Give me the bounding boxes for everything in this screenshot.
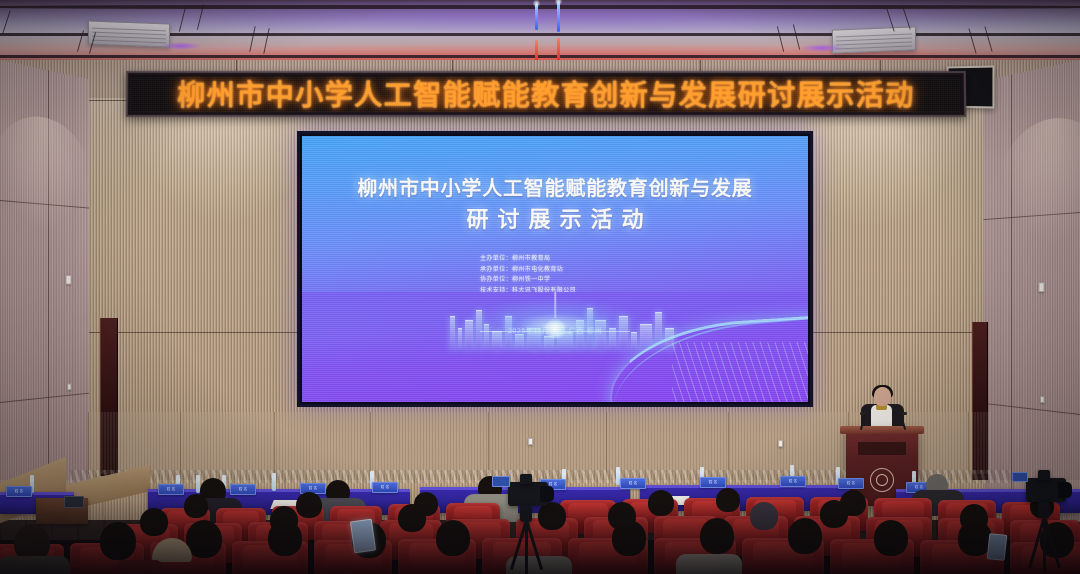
name-card: 姓 名: [700, 477, 726, 488]
air-vent: [832, 26, 916, 53]
screen-content: 柳州市中小学人工智能赋能教育创新与发展 研讨展示活动 主办单位：柳州市教育局 承…: [302, 136, 808, 402]
wall-switch[interactable]: [1040, 396, 1044, 403]
wall-switch[interactable]: [67, 383, 71, 390]
video-camera-left: [492, 468, 556, 572]
audience-member: [118, 560, 162, 574]
name-card: 姓 名: [620, 478, 646, 489]
ceiling: [0, 0, 1080, 68]
skyline-graphic: [302, 292, 808, 402]
led-banner-screen: 柳州市中小学人工智能赋能教育创新与发展研讨展示活动: [131, 76, 961, 112]
fan-lines: [672, 342, 808, 402]
video-camera-right: [1012, 462, 1078, 572]
left-side-wall: [0, 60, 89, 522]
name-card: 姓 名: [230, 484, 256, 495]
wall-switch[interactable]: [528, 438, 533, 445]
wall-switch[interactable]: [1039, 282, 1045, 292]
organizer-line: 协办单位：柳州铁一中学: [480, 275, 576, 286]
air-vent: [88, 20, 170, 47]
main-led-screen: 柳州市中小学人工智能赋能教育创新与发展 研讨展示活动 主办单位：柳州市教育局 承…: [297, 131, 813, 407]
presentation-title-line1: 柳州市中小学人工智能赋能教育创新与发展: [302, 172, 808, 201]
right-side-wall: [984, 60, 1080, 522]
microphone-head: [860, 412, 865, 415]
name-card: 姓 名: [780, 476, 806, 487]
wall-switch[interactable]: [778, 440, 783, 447]
microphone-head: [902, 412, 907, 415]
light-beam: [557, 2, 560, 32]
name-card: 姓 名: [6, 486, 32, 497]
camera-flip-screen: [1012, 472, 1028, 482]
vent-light-glow: [160, 42, 202, 50]
led-banner: 柳州市中小学人工智能赋能教育创新与发展研讨展示活动: [126, 71, 967, 117]
auditorium-photo: 柳州市中小学人工智能赋能教育创新与发展研讨展示活动 柳州市中小学人工智能赋能教育…: [0, 0, 1080, 574]
audience-member: [676, 554, 742, 574]
light-beam: [535, 4, 538, 30]
ceiling-band: [0, 55, 1080, 58]
organizer-line: 主办单位：柳州市教育局: [480, 254, 576, 265]
handheld-device[interactable]: [350, 519, 376, 554]
laptop[interactable]: [64, 496, 84, 508]
name-card: 姓 名: [838, 478, 864, 489]
led-banner-text: 柳州市中小学人工智能赋能教育创新与发展研讨展示活动: [177, 76, 915, 112]
vent-light-glow: [800, 44, 844, 52]
organizer-line: 承办单位：柳州市电化教育站: [480, 265, 576, 276]
organizer-list: 主办单位：柳州市教育局 承办单位：柳州市电化教育站 协办单位：柳州铁一中学 技术…: [480, 254, 576, 296]
wall-switch[interactable]: [66, 275, 72, 284]
name-card: 姓 名: [158, 484, 184, 495]
school-emblem-icon: [870, 468, 894, 492]
name-card: 姓 名: [372, 482, 398, 493]
camera-flip-screen: [492, 476, 510, 487]
ceiling-band: [0, 5, 1080, 9]
handheld-device[interactable]: [987, 533, 1008, 561]
presentation-title-line2: 研讨展示活动: [302, 202, 808, 234]
